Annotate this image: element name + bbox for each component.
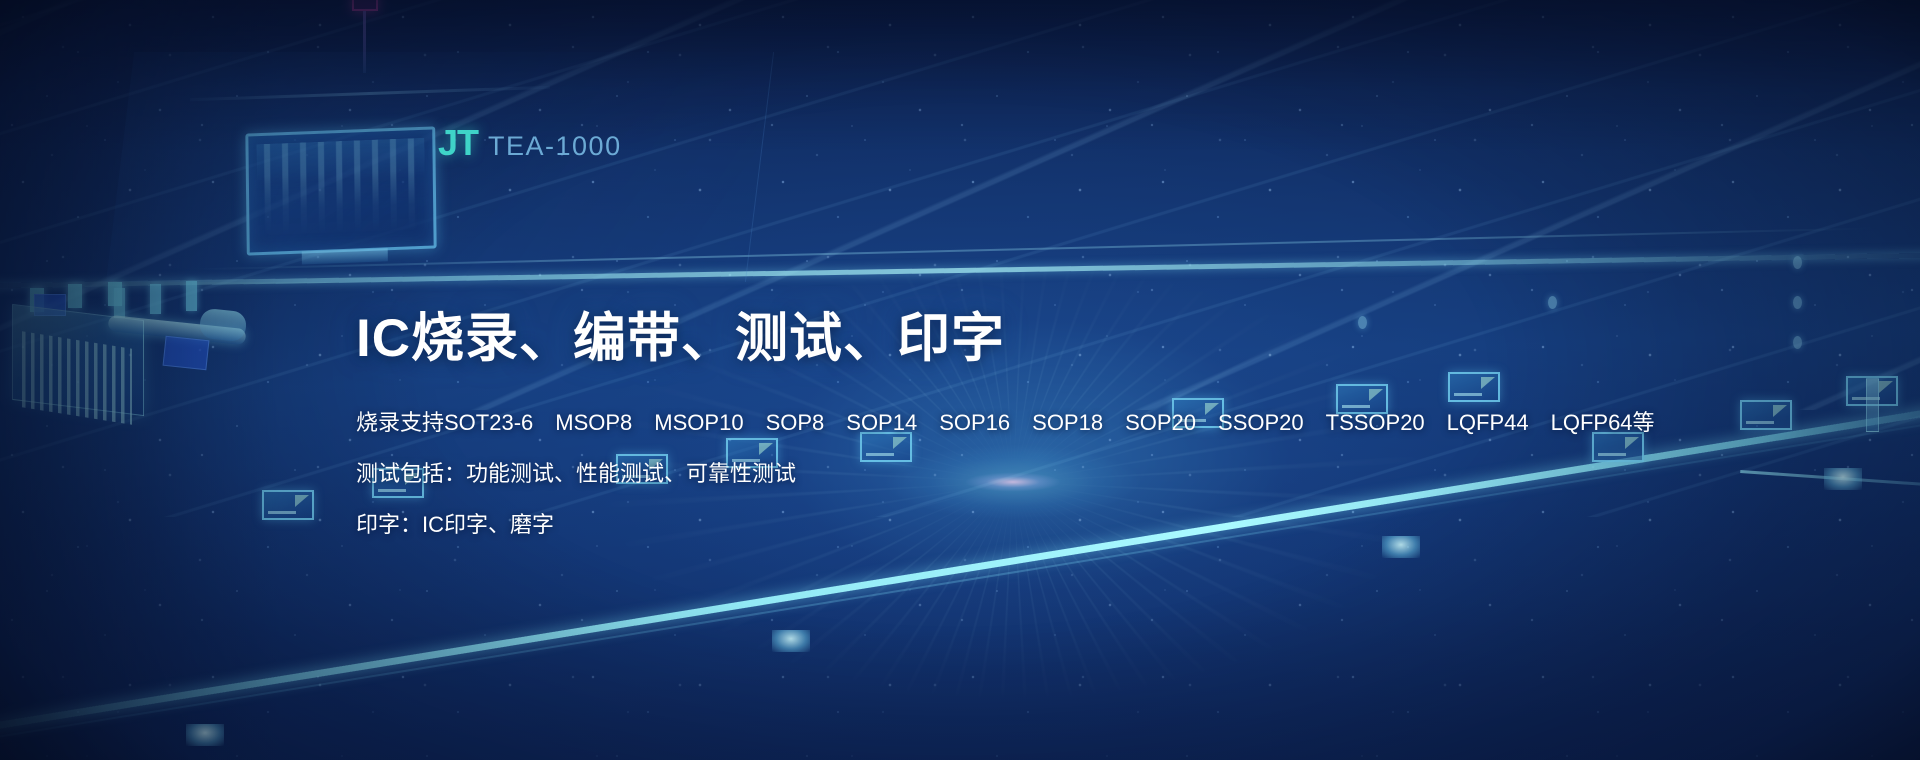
side-bar-indicator-icon xyxy=(1866,378,1879,432)
beam-clamp-icon xyxy=(772,630,810,652)
monitor-stand-icon xyxy=(302,248,388,264)
package-item: SOP20 xyxy=(1125,410,1196,435)
printing-scope-line: 印字：IC印字、磨字 xyxy=(356,509,1616,540)
package-item: LQFP64等 xyxy=(1551,410,1655,435)
package-item: SOP18 xyxy=(1032,410,1103,435)
indicator-dot-icon xyxy=(1793,256,1802,269)
package-item: MSOP8 xyxy=(555,410,632,435)
main-rail-line xyxy=(0,252,1920,289)
lower-rail-line xyxy=(1740,470,1920,489)
machine-head-icon xyxy=(30,288,44,312)
workstation-monitor-icon xyxy=(245,126,436,255)
indicator-dot-icon xyxy=(1793,296,1802,309)
package-item: TSSOP20 xyxy=(1326,410,1425,435)
indicator-dot-icon xyxy=(1793,336,1802,349)
module-cylinder-icon xyxy=(199,308,248,343)
handler-machine-icon xyxy=(12,282,162,432)
brand-model-text: TEA-1000 xyxy=(488,131,622,162)
hero-content: IC烧录、编带、测试、印字 烧录支持SOT23-6MSOP8MSOP10SOP8… xyxy=(356,308,1616,560)
machine-head-2-icon xyxy=(68,284,82,308)
monitor-screen-content xyxy=(256,138,425,238)
test-scope-line: 测试包括：功能测试、性能测试、可靠性测试 xyxy=(356,458,1616,489)
magenta-indicator-icon xyxy=(352,0,378,11)
banner-hero: JT TEA-1000 IC烧录、编带、测试、印字 烧录支持SOT23-6MSO… xyxy=(0,0,1920,760)
gantry-crossbar-icon xyxy=(190,86,550,102)
package-item: SOP16 xyxy=(939,410,1010,435)
package-item: SOP8 xyxy=(766,410,825,435)
module-control-box-icon xyxy=(163,336,210,370)
module-post-3-icon xyxy=(186,281,197,311)
conveyor-module-icon xyxy=(108,286,248,396)
package-item: LQFP44 xyxy=(1447,410,1529,435)
beam-clamp-icon xyxy=(1824,468,1862,490)
machine-head-3-icon xyxy=(108,282,122,306)
floating-panel-icon xyxy=(1740,400,1792,430)
package-item: SSOP20 xyxy=(1218,410,1304,435)
brand-mark-text: JT xyxy=(438,122,478,164)
machine-fins-icon xyxy=(22,331,132,424)
machine-control-box-icon xyxy=(34,294,66,316)
top-shadow-overlay xyxy=(0,0,1920,150)
machine-body-icon xyxy=(12,304,144,416)
burn-support-line: 烧录支持SOT23-6MSOP8MSOP10SOP8SOP14SOP16SOP1… xyxy=(356,407,1616,438)
indicator-stem-icon xyxy=(363,11,366,73)
upper-rail-line xyxy=(180,227,1880,271)
floating-panel-icon xyxy=(1846,376,1898,406)
package-list: MSOP8MSOP10SOP8SOP14SOP16SOP18SOP20SSOP2… xyxy=(555,410,1654,435)
equipment-brand-label: JT TEA-1000 xyxy=(438,122,622,164)
floating-panel-icon xyxy=(262,490,314,520)
gantry-frame-icon xyxy=(106,52,774,282)
burn-support-prefix: 烧录支持SOT23-6 xyxy=(356,410,533,435)
module-post-1-icon xyxy=(114,288,125,318)
beam-clamp-icon xyxy=(186,724,224,746)
package-item: MSOP10 xyxy=(654,410,743,435)
page-title: IC烧录、编带、测试、印字 xyxy=(356,308,1616,371)
hero-subtext-group: 烧录支持SOT23-6MSOP8MSOP10SOP8SOP14SOP16SOP1… xyxy=(356,407,1616,541)
package-item: SOP14 xyxy=(846,410,917,435)
module-tube-icon xyxy=(108,315,247,345)
module-post-2-icon xyxy=(150,284,161,314)
left-shadow-overlay xyxy=(0,0,280,760)
